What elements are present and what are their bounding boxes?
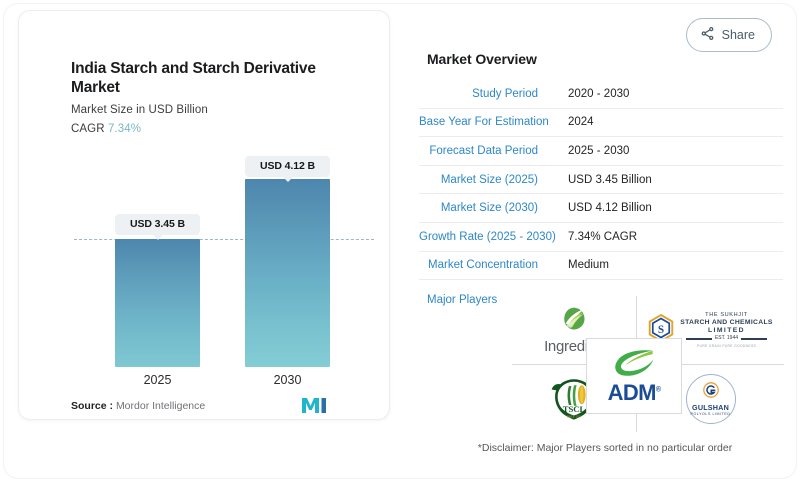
share-icon <box>700 26 715 44</box>
x-axis-tick-2030: 2030 <box>245 373 330 387</box>
row-value-market-size-2025: USD 3.45 Billion <box>568 174 652 186</box>
sukhjit-rule-text: EST. 1944 <box>715 336 738 342</box>
market-overview-table: Study Period 2020 - 2030 Base Year For E… <box>419 80 783 280</box>
screenshot-root: Share India Starch and Starch Derivative… <box>0 0 800 482</box>
table-row: Market Size (2030) USD 4.12 Billion <box>419 194 783 223</box>
source-label: Source : <box>71 400 113 412</box>
gulshan-name: GULSHAN <box>692 403 729 412</box>
row-value-market-size-2030: USD 4.12 Billion <box>568 202 652 214</box>
sukhjit-tagline: PURE GRAIN PURE GOODNESS <box>680 344 772 348</box>
share-button-label: Share <box>722 28 755 42</box>
gulshan-subname: POLYOLS LIMITED <box>691 412 731 416</box>
table-row: Base Year For Estimation 2024 <box>419 109 783 138</box>
row-label-market-size-2025: Market Size (2025) <box>419 174 568 186</box>
source-row: Source : Mordor Intelligence <box>71 400 205 412</box>
ingredion-icon <box>544 306 604 337</box>
players-disclaimer: *Disclaimer: Major Players sorted in no … <box>425 442 785 454</box>
row-value-forecast-period: 2025 - 2030 <box>568 145 629 157</box>
row-value-growth-rate: 7.34% CAGR <box>568 231 637 243</box>
gulshan-icon <box>703 382 719 403</box>
sukhjit-line-2: STARCH AND CHEMICALS <box>680 319 772 327</box>
table-row: Market Concentration Medium <box>419 252 783 281</box>
x-axis-tick-2025: 2025 <box>115 373 200 387</box>
adm-icon <box>608 349 661 382</box>
bar-label-2030: USD 4.12 B <box>245 156 330 177</box>
row-label-forecast-period: Forecast Data Period <box>419 145 568 157</box>
svg-text:TSCL: TSCL <box>563 403 586 413</box>
row-value-study-period: 2020 - 2030 <box>568 88 629 100</box>
sukhjit-rule: EST. 1944 <box>680 336 772 342</box>
table-row: Study Period 2020 - 2030 <box>419 80 783 109</box>
row-label-study-period: Study Period <box>419 88 568 100</box>
row-label-base-year: Base Year For Estimation <box>419 116 568 128</box>
adm-name: ADM® <box>608 382 661 404</box>
bar-2030[interactable] <box>245 179 330 367</box>
mordor-intelligence-logo <box>301 397 327 414</box>
player-cell-adm: ADM® <box>586 338 682 414</box>
sukhjit-line-3: LIMITED <box>680 327 772 335</box>
market-overview-title: Market Overview <box>427 51 537 67</box>
row-label-market-concentration: Market Concentration <box>419 259 568 271</box>
major-players-logo-grid: Ingredion S THE SUKHJIT STARCH AND CHEMI… <box>512 296 784 432</box>
svg-text:S: S <box>658 323 664 335</box>
table-row: Forecast Data Period 2025 - 2030 <box>419 137 783 166</box>
row-value-market-concentration: Medium <box>568 259 609 271</box>
major-players-label: Major Players <box>427 294 497 306</box>
bar-label-2025: USD 3.45 B <box>115 214 200 235</box>
bar-chart-plot: USD 3.45 B USD 4.12 B 2025 2030 <box>19 11 391 421</box>
svg-text:SINCE 1970: SINCE 1970 <box>566 414 582 418</box>
share-button[interactable]: Share <box>686 18 772 52</box>
row-label-market-size-2030: Market Size (2030) <box>419 202 568 214</box>
row-value-base-year: 2024 <box>568 116 594 128</box>
bar-2025[interactable] <box>115 239 200 367</box>
row-label-growth-rate: Growth Rate (2025 - 2030) <box>419 231 568 243</box>
chart-card: India Starch and Starch Derivative Marke… <box>18 10 390 420</box>
sukhjit-line-1: THE SUKHJIT <box>680 312 772 319</box>
table-row: Market Size (2025) USD 3.45 Billion <box>419 166 783 195</box>
source-value: Mordor Intelligence <box>116 400 205 412</box>
table-row: Growth Rate (2025 - 2030) 7.34% CAGR <box>419 223 783 252</box>
